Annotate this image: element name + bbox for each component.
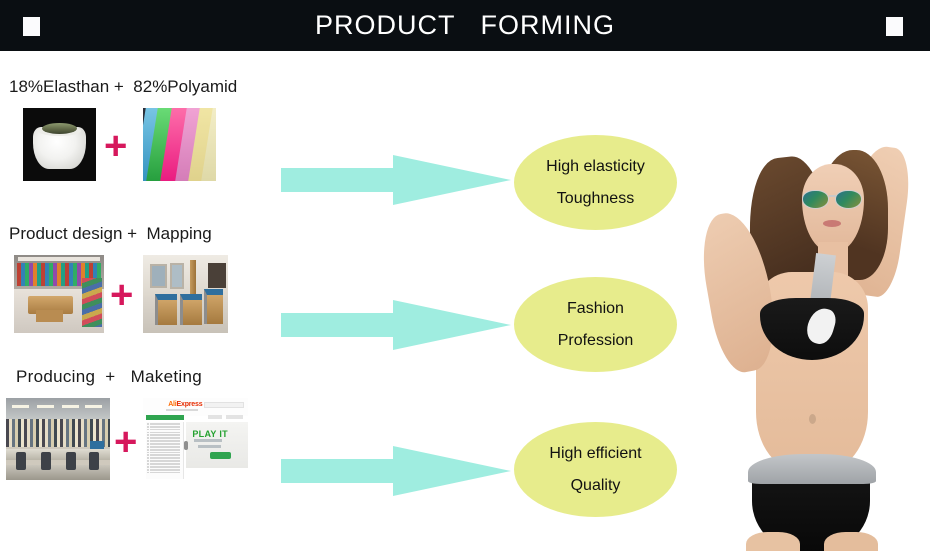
garment-factory-photo — [6, 398, 110, 480]
row-thumbnails: + AliExpress — [0, 398, 285, 476]
page-title: PRODUCT FORMING — [315, 10, 615, 41]
row-caption: 18%Elasthan + 82%Polyamid — [0, 77, 285, 97]
aliexpress-logo: AliExpress — [168, 401, 202, 408]
row-thumbnails: + — [0, 255, 285, 333]
process-arrow-3 — [281, 446, 511, 501]
process-row-design: Product design + Mapping + — [0, 224, 285, 333]
design-showroom-photo — [14, 255, 104, 333]
callout-line-2: Profession — [558, 325, 634, 356]
content-stage: 18%Elasthan + 82%Polyamid + Product desi… — [0, 51, 930, 500]
banner-headline: PLAY IT — [192, 429, 228, 439]
process-row-materials: 18%Elasthan + 82%Polyamid + — [0, 77, 285, 186]
fabric-rolls-photo — [143, 108, 216, 181]
callout-ellipse-efficiency: High efficient Quality — [514, 422, 677, 517]
plus-sign: + — [104, 126, 127, 166]
process-arrow-2 — [281, 300, 511, 355]
callout-ellipse-elasticity: High elasticity Toughness — [514, 135, 677, 230]
callout-line-2: Quality — [571, 470, 621, 501]
row-thumbnails: + — [0, 108, 285, 186]
callout-line-1: High elasticity — [546, 151, 645, 182]
process-row-production: Producing + Maketing + AliExpress — [0, 367, 285, 476]
aliexpress-screenshot: AliExpress — [143, 398, 248, 480]
process-arrow-1 — [281, 155, 511, 210]
swimwear-model-photo — [690, 102, 930, 551]
yarn-spool-photo — [23, 108, 96, 181]
decorative-square-right — [886, 17, 903, 36]
callout-line-1: High efficient — [549, 438, 641, 469]
sunglasses-icon — [802, 190, 864, 209]
retail-store-photo — [143, 255, 228, 333]
callout-line-1: Fashion — [567, 293, 624, 324]
row-caption: Producing + Maketing — [0, 367, 285, 387]
row-caption: Product design + Mapping — [0, 224, 285, 244]
plus-sign: + — [110, 275, 133, 315]
decorative-square-left — [23, 17, 40, 36]
callout-ellipse-fashion: Fashion Profession — [514, 277, 677, 372]
plus-sign: + — [114, 422, 137, 462]
page-header: PRODUCT FORMING — [0, 0, 930, 51]
callout-line-2: Toughness — [557, 183, 634, 214]
